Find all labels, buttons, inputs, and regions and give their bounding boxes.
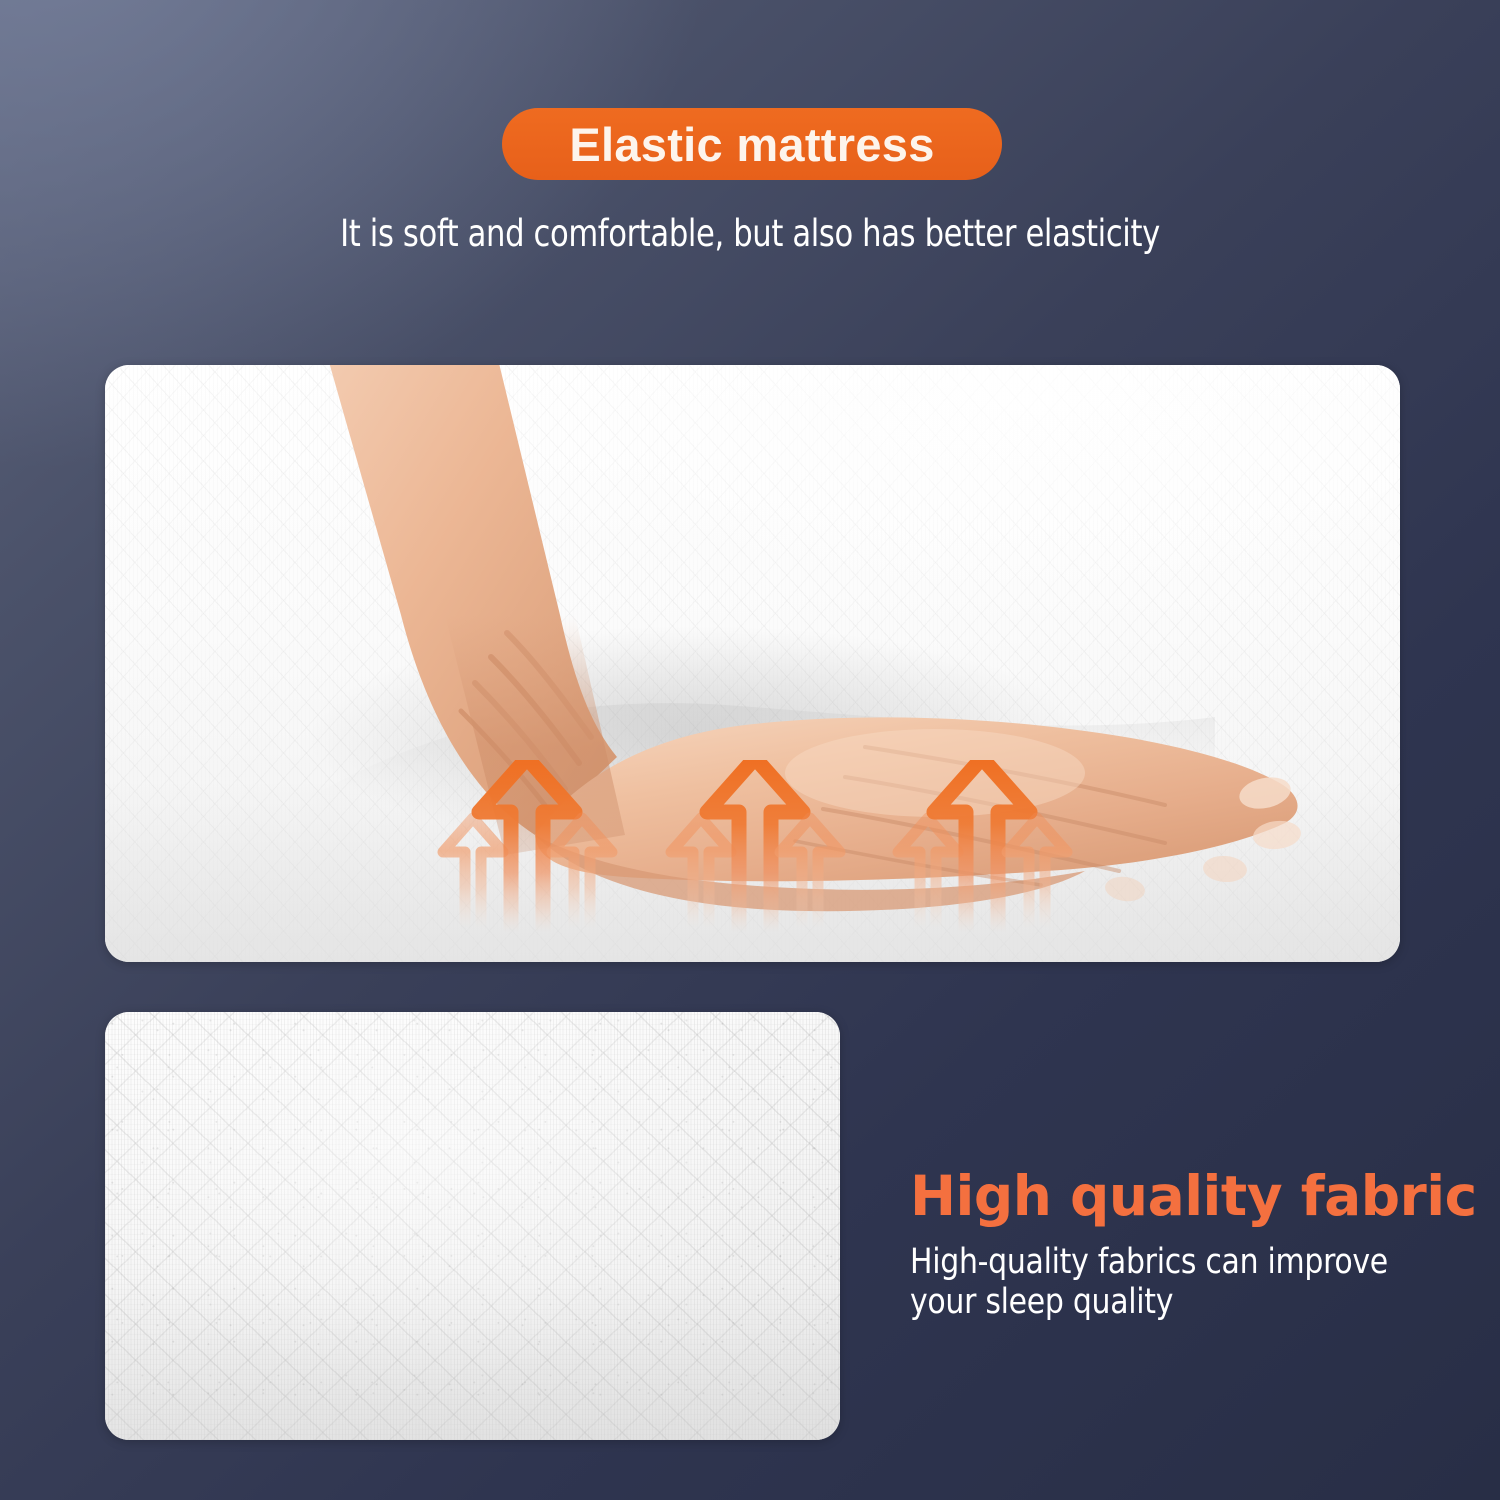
header-area: Elastic mattress It is soft and comforta… [0,0,1500,330]
arrow-group [435,760,620,935]
title-badge-label: Elastic mattress [569,121,934,168]
fabric-vignette [105,1012,840,1440]
elasticity-photo-panel [105,365,1400,962]
upward-arrow-icon [443,818,503,928]
upward-arrow-icon [780,818,840,928]
upward-arrow-icon [898,818,958,928]
fabric-body-text: High-quality fabrics can improve your sl… [910,1242,1442,1323]
title-badge: Elastic mattress [502,108,1002,180]
promo-page: Elastic mattress It is soft and comforta… [0,0,1500,1500]
upward-arrow-icon [671,818,731,928]
upward-arrow-icon [1007,818,1067,928]
fabric-heading: High quality fabric [910,1168,1470,1226]
fabric-swatch-panel [105,1012,840,1440]
fabric-copy-block: High quality fabric High-quality fabrics… [910,1168,1470,1323]
arrow-group [663,760,848,935]
upward-arrow-icon [552,818,612,928]
arrow-group [890,760,1075,935]
elasticity-arrow-row [435,760,1075,935]
header-subtitle: It is soft and comfortable, but also has… [60,212,1440,255]
